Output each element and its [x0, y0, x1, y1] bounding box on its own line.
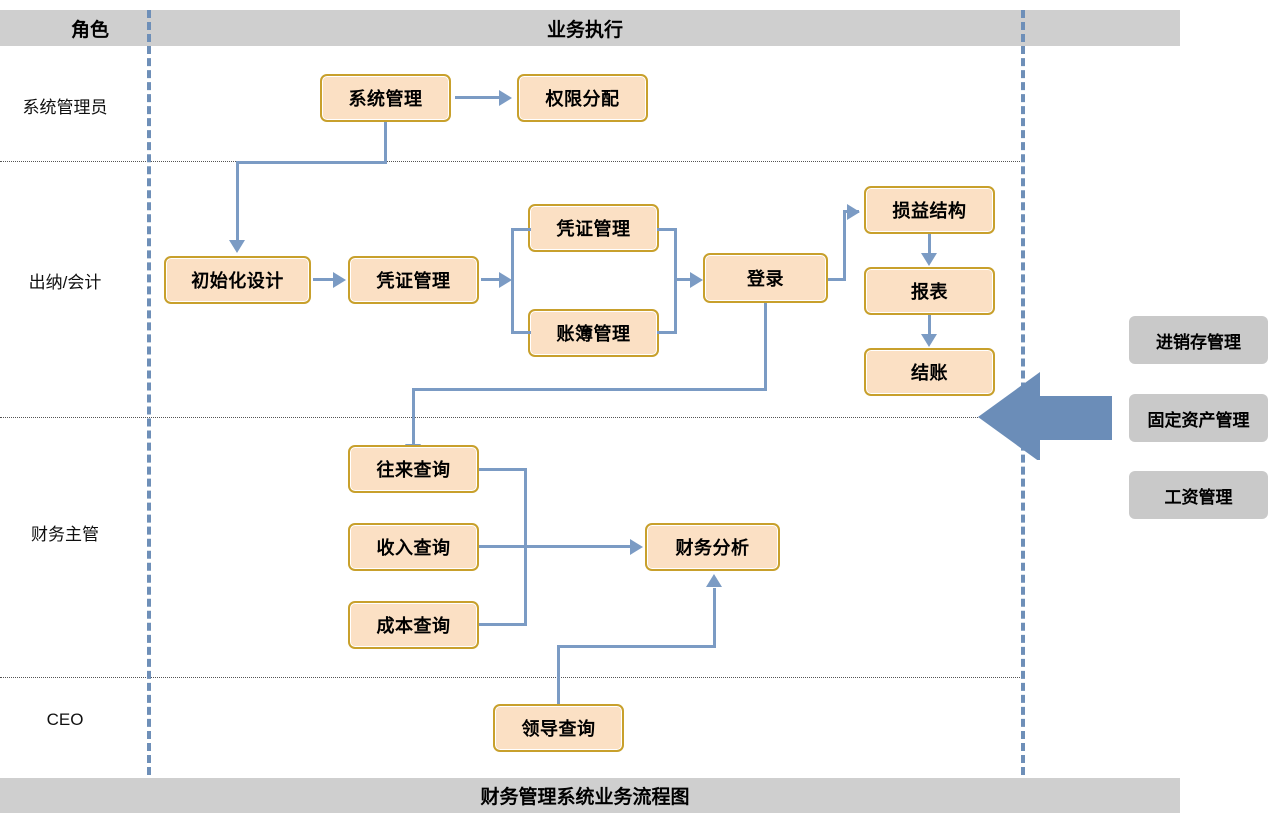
lane-label-ceo: CEO — [0, 700, 130, 740]
arrowhead-login — [690, 272, 703, 288]
arrowhead-analysis-from-leader — [706, 574, 722, 587]
node-login[interactable]: 登录 — [703, 253, 828, 303]
diagram-title-footer: 财务管理系统业务流程图 — [148, 778, 1022, 813]
edge-login-to-lane3 — [412, 388, 767, 391]
edge-leader-up — [557, 645, 560, 705]
arrowhead-initialization — [229, 240, 245, 253]
lane-boundary-left — [147, 10, 151, 775]
lane-label-sysadmin: 系统管理员 — [0, 85, 130, 125]
lane-divider-2 — [0, 417, 1022, 418]
edge-voucher-to-split — [481, 278, 501, 281]
node-system-management[interactable]: 系统管理 — [320, 74, 451, 122]
edge-leader-right — [557, 645, 716, 648]
diagram-title-text: 财务管理系统业务流程图 — [480, 782, 689, 809]
node-receivable-query[interactable]: 往来查询 — [348, 445, 479, 493]
header-role-column: 角色 — [40, 10, 140, 46]
node-permission-assignment[interactable]: 权限分配 — [517, 74, 648, 122]
header-exec-column: 业务执行 — [148, 10, 1022, 46]
node-income-query[interactable]: 收入查询 — [348, 523, 479, 571]
module-inventory-management[interactable]: 进销存管理 — [1129, 316, 1268, 364]
edge-login-down — [764, 303, 767, 391]
edge-receivable-right — [479, 468, 526, 471]
integration-arrow-icon — [978, 370, 1112, 460]
node-report[interactable]: 报表 — [864, 267, 995, 315]
lane-label-cashier-accountant: 出纳/会计 — [0, 260, 130, 300]
arrowhead-settlement — [921, 334, 937, 347]
edge-login-up — [843, 210, 846, 281]
edge-init-to-voucher — [313, 278, 335, 281]
edge-leader-to-analysis — [713, 588, 716, 646]
node-voucher-management[interactable]: 凭证管理 — [348, 256, 479, 304]
node-cost-query[interactable]: 成本查询 — [348, 601, 479, 649]
edge-sysmgmt-down — [384, 122, 387, 164]
edge-split-vertical — [511, 228, 514, 333]
arrowhead-voucher — [333, 272, 346, 288]
arrowhead-financial-analysis — [630, 539, 643, 555]
arrowhead-report — [921, 253, 937, 266]
edge-split-to-ledger — [511, 331, 531, 334]
node-profit-loss-structure[interactable]: 损益结构 — [864, 186, 995, 234]
module-fixed-asset-management[interactable]: 固定资产管理 — [1129, 394, 1268, 442]
edge-cost-right — [479, 623, 526, 626]
lane-divider-1 — [0, 161, 1022, 162]
header-role-label: 角色 — [71, 15, 109, 42]
edge-sysmgmt-to-init — [236, 161, 239, 242]
lane-label-finance-manager: 财务主管 — [0, 512, 130, 552]
edge-sysmgmt-to-permission — [455, 96, 501, 99]
flowchart-canvas: 角色 业务执行 系统管理员 出纳/会计 财务主管 CEO 系统管理 权限分配 初… — [0, 0, 1280, 815]
lane-divider-3 — [0, 677, 1022, 678]
module-payroll-management[interactable]: 工资管理 — [1129, 471, 1268, 519]
edge-lane3-down — [412, 388, 415, 448]
header-exec-label: 业务执行 — [547, 15, 623, 42]
arrowhead-profit-loss — [847, 204, 860, 220]
node-leader-query[interactable]: 领导查询 — [493, 704, 624, 752]
node-ledger-management[interactable]: 账簿管理 — [528, 309, 659, 357]
node-settlement[interactable]: 结账 — [864, 348, 995, 396]
arrowhead-permission — [499, 90, 512, 106]
edge-sysmgmt-left — [236, 161, 387, 164]
node-voucher-management-branch[interactable]: 凭证管理 — [528, 204, 659, 252]
node-financial-analysis[interactable]: 财务分析 — [645, 523, 780, 571]
node-initialization-design[interactable]: 初始化设计 — [164, 256, 311, 304]
edge-split-to-voucher-branch — [511, 228, 531, 231]
edge-income-to-analysis — [479, 545, 633, 548]
